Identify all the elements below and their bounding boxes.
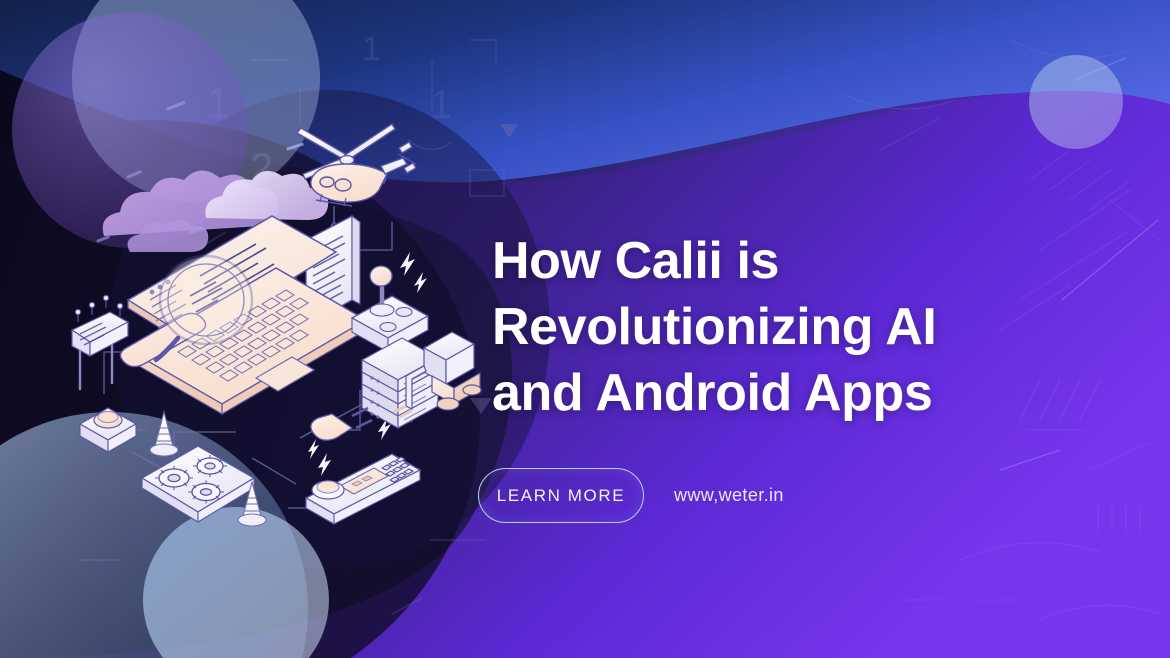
call-to-action-row: LEARN MORE www,weter.in	[478, 468, 784, 523]
plug-connector	[311, 408, 372, 440]
billboard-sign	[72, 295, 128, 390]
headline-block: How Calii is Revolutionizing AI and Andr…	[492, 228, 1052, 426]
promo-banner: 1 2 1 1	[0, 0, 1170, 658]
headline-line-3: and Android Apps	[492, 360, 1052, 426]
learn-more-button[interactable]: LEARN MORE	[478, 468, 644, 523]
headline-line-1: How Calii is	[492, 228, 1052, 294]
push-button	[80, 408, 136, 452]
headline-line-2: Revolutionizing AI	[492, 294, 1052, 360]
page-title: How Calii is Revolutionizing AI and Andr…	[492, 228, 1052, 426]
website-url: www,weter.in	[674, 485, 784, 506]
joystick	[352, 266, 428, 352]
gears-platform	[142, 446, 254, 522]
cable-connector	[417, 416, 456, 440]
